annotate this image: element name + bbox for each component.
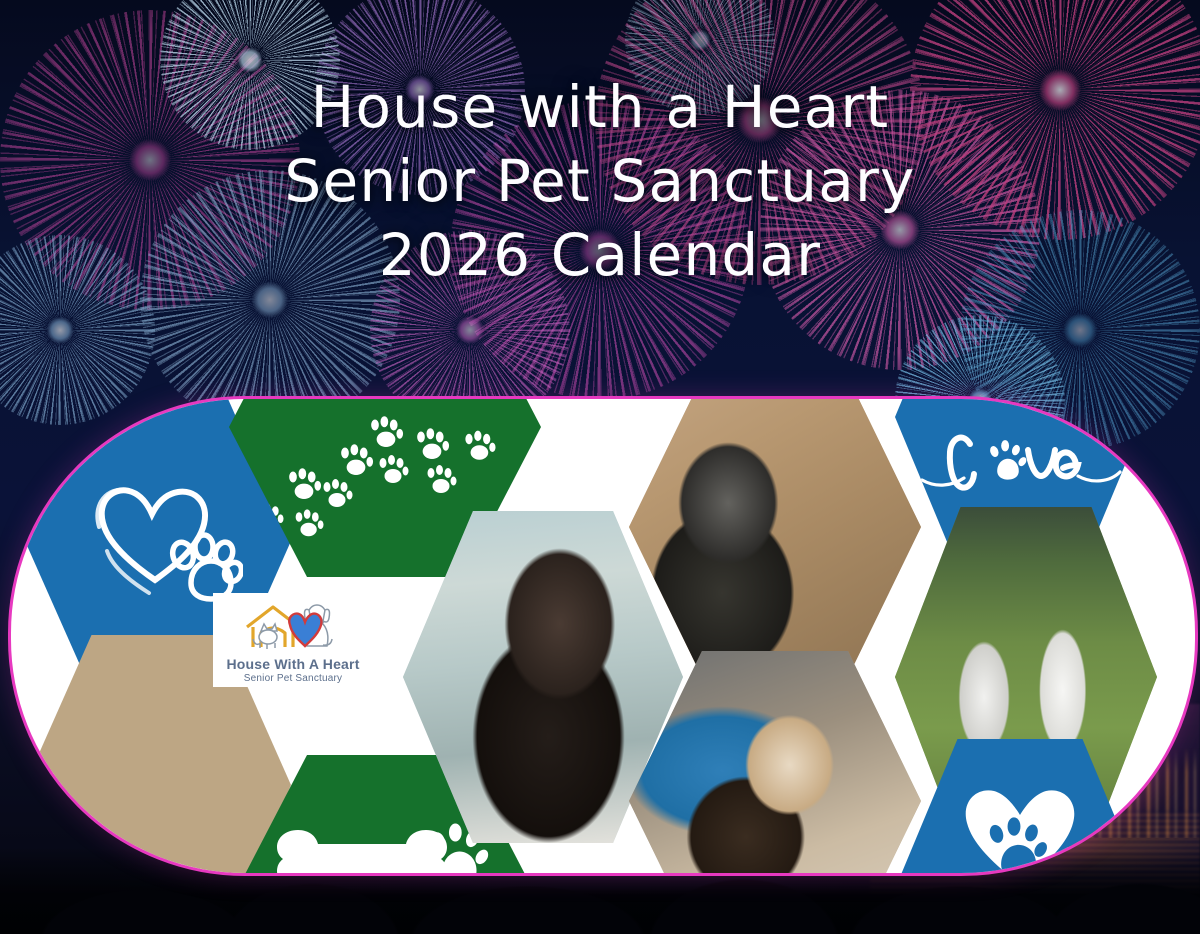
logo-name: House With A Heart [226, 656, 359, 672]
heart-with-paws-icon [945, 783, 1095, 876]
photo-grey-dog-image [629, 396, 921, 677]
logo-mark-icon [227, 597, 359, 653]
heart-with-paw-icon [73, 471, 243, 611]
organization-logo: House With A Heart Senior Pet Sanctuary [213, 593, 373, 687]
cat-icon [253, 624, 277, 649]
love-script-icon [910, 424, 1130, 516]
hex-photo-grey-dog [629, 396, 921, 677]
hexagon-grid: House With A Heart Senior Pet Sanctuary [11, 399, 1195, 873]
calendar-cover-page: House with a Heart Senior Pet Sanctuary … [0, 0, 1200, 934]
photo-collage-pill: House With A Heart Senior Pet Sanctuary [8, 396, 1198, 876]
logo-tagline: Senior Pet Sanctuary [244, 673, 343, 684]
